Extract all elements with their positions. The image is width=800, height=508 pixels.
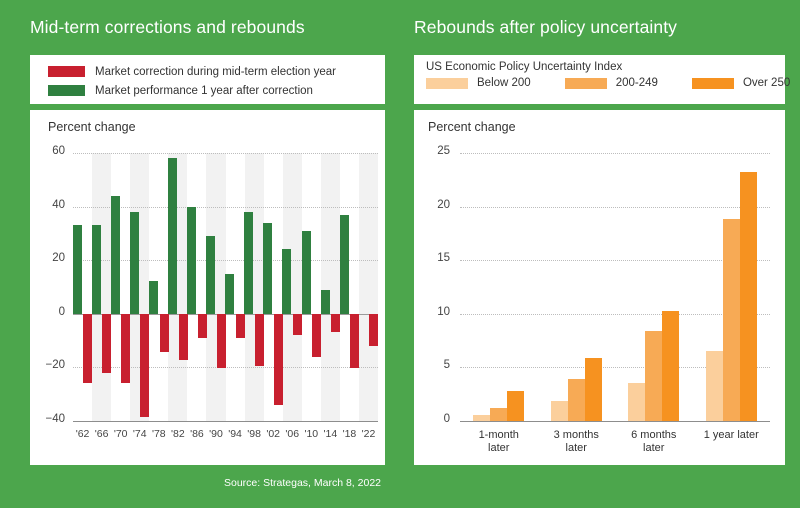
bar-rebound (168, 158, 177, 313)
bar-rebound (92, 225, 101, 313)
left-panel: Mid-term corrections and rebounds Market… (0, 0, 400, 508)
bar-correction (140, 314, 149, 417)
y-gridline (73, 153, 378, 154)
x-axis-tick-label: '90 (206, 428, 225, 440)
infographic-root: Mid-term corrections and rebounds Market… (0, 0, 800, 508)
legend-label-over-250: Over 250 (743, 77, 790, 89)
bar-below-200 (473, 415, 490, 421)
legend-item-correction: Market correction during mid-term electi… (48, 63, 336, 80)
bar-rebound (130, 212, 139, 314)
x-axis-tick-line: 6 months (615, 429, 693, 442)
x-axis-line (460, 421, 770, 422)
bar-correction (350, 314, 359, 368)
right-legend-card: US Economic Policy Uncertainty Index Bel… (414, 55, 785, 104)
y-axis-tick-label: 0 (414, 413, 450, 425)
bar-below-200 (706, 351, 723, 421)
y-axis-tick-label: 15 (414, 252, 450, 264)
x-axis-tick-label: '06 (283, 428, 302, 440)
bar-rebound (244, 212, 253, 314)
legend-swatch-orange-dark-icon (692, 78, 734, 89)
bar-correction (198, 314, 207, 339)
bar-rebound (111, 196, 120, 314)
right-panel: Rebounds after policy uncertainty US Eco… (400, 0, 800, 508)
x-axis-tick-label: '94 (226, 428, 245, 440)
y-gridline (460, 207, 770, 208)
bar-rebound (302, 231, 311, 314)
legend-swatch-red-icon (48, 66, 85, 77)
bar-rebound (149, 281, 158, 314)
x-axis-tick-line: 1-month (460, 429, 538, 442)
legend-item-200-249: 200-249 (565, 77, 658, 89)
bar-correction (331, 314, 340, 332)
bar-correction (236, 314, 245, 338)
x-axis-tick-label: 1-monthlater (460, 429, 538, 455)
y-axis-tick-label: 10 (414, 306, 450, 318)
x-axis-tick-label: '22 (359, 428, 378, 440)
x-axis-tick-label: '86 (187, 428, 206, 440)
x-axis-tick-line: later (460, 442, 538, 455)
right-panel-title: Rebounds after policy uncertainty (414, 17, 677, 38)
legend-label-200-249: 200-249 (616, 77, 658, 89)
bar-rebound (73, 225, 82, 313)
bar-200-249 (723, 219, 740, 421)
legend-swatch-green-icon (48, 85, 85, 96)
x-axis-tick-label: '18 (340, 428, 359, 440)
bar-rebound (225, 274, 234, 314)
left-legend-card: Market correction during mid-term electi… (30, 55, 385, 104)
legend-item-over-250: Over 250 (692, 77, 790, 89)
legend-item-rebound: Market performance 1 year after correcti… (48, 82, 336, 99)
bar-below-200 (551, 401, 568, 421)
left-source-note: Source: Strategas, March 8, 2022 (224, 477, 381, 489)
plot-band (321, 153, 340, 421)
x-axis-tick-label: '02 (264, 428, 283, 440)
right-chart-card: Percent change 25201510501-monthlater3 m… (414, 110, 785, 465)
x-axis-tick-label: '62 (73, 428, 92, 440)
legend-label-below-200: Below 200 (477, 77, 531, 89)
x-axis-tick-label: '14 (321, 428, 340, 440)
plot-band (359, 153, 378, 421)
x-axis-tick-line: 1 year later (693, 429, 771, 442)
bar-correction (121, 314, 130, 384)
bar-correction (274, 314, 283, 405)
left-legend-list: Market correction during mid-term electi… (48, 63, 336, 101)
legend-label-rebound: Market performance 1 year after correcti… (95, 85, 313, 97)
bar-200-249 (645, 331, 662, 421)
bar-correction (217, 314, 226, 368)
y-axis-tick-label: 20 (30, 252, 65, 264)
bar-correction (102, 314, 111, 373)
x-axis-tick-label: '78 (149, 428, 168, 440)
y-axis-tick-label: 5 (414, 359, 450, 371)
bar-below-200 (628, 383, 645, 421)
right-legend-list: US Economic Policy Uncertainty Index Bel… (426, 61, 777, 89)
bar-200-249 (490, 408, 507, 421)
bar-rebound (263, 223, 272, 314)
x-axis-tick-label: '82 (168, 428, 187, 440)
y-axis-tick-label: 25 (414, 145, 450, 157)
x-axis-tick-line: 3 months (538, 429, 616, 442)
legend-swatch-orange-light-icon (426, 78, 468, 89)
left-chart-card: Percent change 6040200−20−40'62'66'70'74… (30, 110, 385, 465)
bar-correction (160, 314, 169, 352)
bar-rebound (206, 236, 215, 314)
x-axis-tick-label: 1 year later (693, 429, 771, 442)
y-axis-tick-label: 0 (30, 306, 65, 318)
x-axis-tick-label: '74 (130, 428, 149, 440)
bar-correction (179, 314, 188, 360)
y-axis-tick-label: −40 (30, 413, 65, 425)
left-plot-area: 6040200−20−40'62'66'70'74'78'82'86'90'94… (30, 110, 385, 465)
y-axis-tick-label: −20 (30, 359, 65, 371)
legend-item-below-200: Below 200 (426, 77, 531, 89)
y-gridline (460, 153, 770, 154)
bar-over-250 (662, 311, 679, 421)
bar-correction (369, 314, 378, 346)
x-axis-tick-label: '10 (302, 428, 321, 440)
y-axis-tick-label: 40 (30, 199, 65, 211)
x-axis-line (73, 421, 378, 422)
y-axis-tick-label: 20 (414, 199, 450, 211)
bar-rebound (282, 249, 291, 313)
legend-swatch-orange-medium-icon (565, 78, 607, 89)
bar-200-249 (568, 379, 585, 421)
bar-over-250 (507, 391, 524, 421)
bar-correction (312, 314, 321, 357)
y-axis-tick-label: 60 (30, 145, 65, 157)
right-legend-items: Below 200 200-249 Over 250 (426, 77, 777, 89)
bar-rebound (187, 207, 196, 314)
x-axis-tick-line: later (615, 442, 693, 455)
x-axis-tick-label: 3 monthslater (538, 429, 616, 455)
bar-rebound (340, 215, 349, 314)
legend-label-correction: Market correction during mid-term electi… (95, 66, 336, 78)
bar-rebound (321, 290, 330, 314)
right-plot-area: 25201510501-monthlater3 monthslater6 mon… (414, 110, 785, 465)
x-axis-tick-label: '98 (245, 428, 264, 440)
bar-over-250 (585, 358, 602, 421)
left-panel-title: Mid-term corrections and rebounds (30, 17, 305, 38)
bar-correction (255, 314, 264, 367)
bar-correction (293, 314, 302, 335)
x-axis-tick-label: '66 (92, 428, 111, 440)
right-legend-heading: US Economic Policy Uncertainty Index (426, 61, 777, 73)
x-axis-tick-line: later (538, 442, 616, 455)
x-axis-tick-label: 6 monthslater (615, 429, 693, 455)
bar-correction (83, 314, 92, 383)
bar-over-250 (740, 172, 757, 421)
x-axis-tick-label: '70 (111, 428, 130, 440)
